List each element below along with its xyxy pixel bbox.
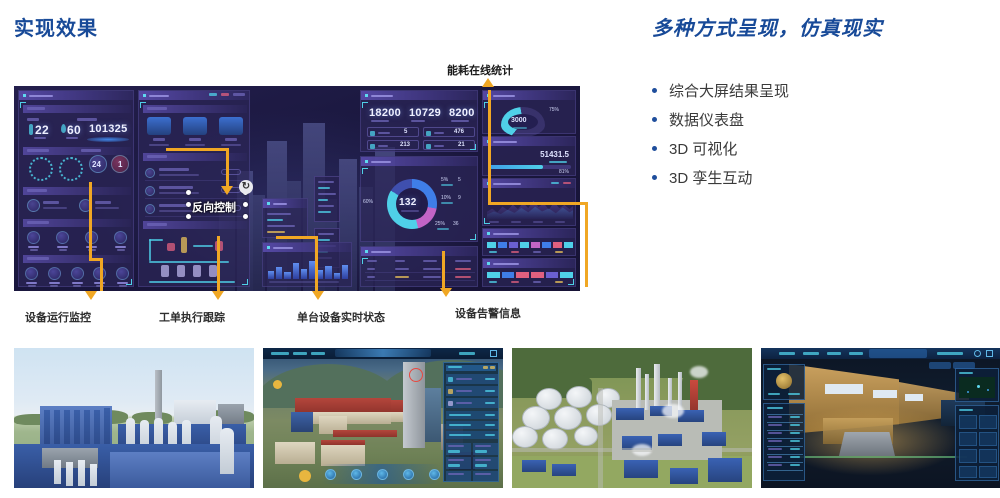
annotation-label-2: 工单执行跟踪 (159, 309, 225, 325)
panel-header (483, 179, 575, 188)
donut-legend-value: 36 (453, 221, 459, 227)
energy-total-value: 51431.5 (540, 150, 569, 159)
workorder-card-icon[interactable] (183, 117, 207, 135)
panel-stats: 18200 10729 8200 5 476 (360, 90, 478, 152)
twin-panel-row[interactable] (446, 431, 498, 439)
camera-cell[interactable] (979, 432, 997, 446)
thumb-digital-twin[interactable] (263, 348, 503, 488)
gauge-ring-1 (29, 157, 53, 181)
list-item: 3D 可视化 (652, 134, 982, 163)
device-icon-grid-1[interactable] (27, 231, 127, 251)
donut-legend-percent: 25% (435, 221, 445, 227)
annotation-line-left-v2 (100, 258, 103, 291)
marker-icon (273, 380, 282, 389)
panel-header (263, 243, 351, 252)
nav-icon[interactable] (377, 469, 388, 480)
selection-handle[interactable] (186, 202, 191, 207)
annotation-arrow-reverse (221, 186, 233, 195)
list-item: 数据仪表盘 (652, 105, 982, 134)
temperature-value: 22 (35, 123, 49, 137)
stat-chip: 476 (423, 127, 475, 137)
stat-third-value: 8200 (449, 107, 475, 119)
camera-cell[interactable] (959, 432, 977, 446)
table-row[interactable] (365, 274, 475, 281)
camera-cell[interactable] (979, 466, 997, 478)
device-icon[interactable] (114, 231, 127, 251)
feature-list: 综合大屏结果呈现 数据仪表盘 3D 可视化 3D 孪生互动 (652, 76, 982, 192)
panel-header (263, 199, 307, 208)
annotation-line-left-v (89, 182, 92, 260)
refresh-icon[interactable]: ↻ (239, 180, 253, 194)
thumb-night-interior[interactable] (761, 348, 1000, 488)
table-row[interactable] (145, 165, 245, 181)
close-icon[interactable] (986, 350, 993, 357)
donut-legend-value: 5 (458, 177, 461, 183)
annotation-line-energy-h (488, 202, 588, 205)
nav-marker-icon[interactable] (299, 470, 311, 482)
list-item-label: 3D 孪生互动 (669, 167, 752, 188)
selection-handle[interactable] (243, 202, 248, 207)
camera-cell[interactable] (959, 466, 977, 478)
annotation-arrow-3 (312, 291, 324, 300)
table-row[interactable] (365, 266, 475, 273)
right-camera-panel (955, 405, 999, 481)
panel-header (19, 91, 133, 100)
twin-panel-row[interactable] (446, 374, 498, 384)
humidity-icon (61, 124, 66, 133)
panel-header (361, 91, 477, 100)
right-map-panel (955, 368, 999, 402)
progress-fill (489, 165, 543, 169)
panel-environment: 22 60 101325 24 1 (18, 90, 134, 287)
annotation-line-energy (488, 90, 491, 205)
selection-handle[interactable] (186, 214, 191, 219)
panel-heatmap-1 (482, 228, 576, 256)
fault-count-value: 1 (118, 160, 122, 169)
nav-icon[interactable] (325, 469, 336, 480)
panel-bar-chart (262, 242, 352, 287)
twin-metric (473, 471, 498, 481)
list-item-label: 综合大屏结果呈现 (669, 80, 789, 101)
close-icon[interactable] (490, 350, 497, 357)
stat-chip: 213 (367, 140, 419, 150)
donut-center-value: 132 (399, 197, 417, 208)
dashboard-screenshot: 22 60 101325 24 1 (14, 86, 580, 291)
bullet-icon (652, 175, 657, 180)
panel-heatmap-2 (482, 258, 576, 287)
panel-header (361, 157, 477, 166)
donut-legend-percent: 5% (441, 177, 448, 183)
bullet-icon (652, 117, 657, 122)
view-toggle[interactable] (929, 362, 951, 369)
gauge-percent: 75% (549, 107, 559, 113)
donut-legend-value: 9 (458, 195, 461, 201)
annotation-arrow-up (482, 78, 494, 87)
twin-side-panel (443, 362, 499, 482)
bullet-icon (652, 88, 657, 93)
page-title-right: 多种方式呈现，仿真现实 (652, 12, 883, 41)
thumbnail-row (14, 348, 1000, 488)
donut-legend-percent: 10% (441, 195, 451, 201)
camera-cell[interactable] (979, 449, 997, 463)
twin-metric (473, 457, 498, 469)
panel-energy-total: 51431.5 81% (482, 136, 576, 176)
annotation-line-device-v (315, 236, 318, 291)
twin-panel-row[interactable] (446, 398, 498, 408)
list-item: 3D 孪生互动 (652, 163, 982, 192)
alarm-count-value: 24 (92, 160, 101, 169)
heatmap-row (487, 272, 573, 278)
list-item: 综合大屏结果呈现 (652, 76, 982, 105)
reverse-control-label: 反向控制 (192, 199, 236, 215)
panel-alarm-table (360, 246, 478, 287)
camera-cell[interactable] (959, 415, 977, 429)
nav-icon[interactable] (403, 469, 414, 480)
workorder-card-icon[interactable] (219, 117, 243, 135)
panel-header (483, 259, 575, 268)
stat-chip: 5 (367, 127, 419, 137)
pressure-indicator (87, 137, 129, 142)
thumb-plant-3d[interactable] (14, 348, 254, 488)
pressure-value: 101325 (89, 123, 128, 135)
annotation-line-wo (217, 236, 220, 291)
twin-panel-row[interactable] (446, 421, 498, 429)
annotation-arrow-1 (85, 291, 97, 300)
thermometer-icon (29, 124, 33, 135)
slide-root: 实现效果 多种方式呈现，仿真现实 综合大屏结果呈现 数据仪表盘 3D 可视化 3… (0, 0, 1000, 498)
mini-map[interactable] (959, 377, 995, 398)
selection-handle[interactable] (243, 214, 248, 219)
ramp (839, 432, 895, 456)
donut-legend-percent: 60% (363, 199, 373, 205)
device-icon[interactable] (71, 267, 84, 287)
panel-energy-gauge: 3000 75% (482, 90, 576, 134)
bar-chart (268, 259, 348, 279)
panel-header (483, 91, 575, 100)
list-item-label: 3D 可视化 (669, 138, 737, 159)
device-icon[interactable] (27, 231, 40, 251)
annotation-label-3: 单台设备实时状态 (297, 309, 385, 325)
annotation-line-reverse-v (226, 148, 229, 188)
device-icon[interactable] (25, 267, 38, 287)
gauge-ring-2 (59, 157, 83, 181)
panel-alarm-distribution: 132 60% 5% 5 10% 9 25% 36 (360, 156, 478, 242)
status-icon-1 (27, 199, 40, 212)
twin-panel-row[interactable] (446, 386, 498, 396)
page-title-left: 实现效果 (14, 12, 98, 41)
workorder-card-icon[interactable] (147, 117, 171, 135)
gauge-value: 3000 (511, 117, 527, 124)
annotation-line-energy-v2 (585, 202, 588, 287)
view-toggle[interactable] (953, 362, 975, 369)
twin-metric (446, 457, 471, 469)
bullet-icon (652, 146, 657, 151)
left-list-panel (763, 403, 805, 481)
thumb-refinery-aerial[interactable] (512, 348, 752, 488)
panel-workorder (138, 90, 250, 287)
camera-cell[interactable] (979, 415, 997, 429)
top-title-tab (869, 349, 927, 358)
camera-cell[interactable] (959, 449, 977, 463)
process-schematic (147, 233, 243, 285)
device-icon-grid-2[interactable] (25, 267, 129, 287)
selection-handle[interactable] (186, 190, 191, 195)
stat-total-value: 18200 (369, 107, 401, 119)
left-info-panel (763, 364, 805, 400)
twin-metric (446, 443, 471, 455)
annotation-label-energy: 能耗在线统计 (447, 62, 513, 78)
list-item-label: 数据仪表盘 (669, 109, 744, 130)
emblem-icon (776, 373, 792, 389)
annotation-line-alarm (442, 251, 445, 291)
device-icon[interactable] (56, 231, 69, 251)
annotation-label-1: 设备运行监控 (25, 309, 91, 325)
annotation-label-4: 设备告警信息 (455, 305, 521, 321)
help-icon[interactable] (974, 350, 981, 357)
annotation-arrow-4 (440, 288, 452, 297)
stat-second-value: 10729 (409, 107, 441, 119)
heatmap-row (487, 242, 573, 248)
stat-chip: 21 (423, 140, 475, 150)
panel-header (361, 247, 477, 256)
annotation-line-reverse-h (166, 148, 229, 151)
humidity-value: 60 (67, 123, 81, 137)
device-icon[interactable] (48, 267, 61, 287)
twin-metric (473, 443, 498, 455)
panel-header (483, 137, 575, 146)
panel-pipe-values (314, 176, 340, 222)
annotation-line-device-h (276, 236, 318, 239)
twin-metric (446, 471, 471, 481)
twin-panel-row[interactable] (446, 411, 498, 419)
annotation-arrow-2 (212, 291, 224, 300)
energy-rate-value: 81% (559, 169, 569, 175)
nav-icon[interactable] (429, 469, 440, 480)
nav-icon[interactable] (351, 469, 362, 480)
panel-mini-metrics (262, 198, 308, 238)
panel-header (483, 229, 575, 238)
